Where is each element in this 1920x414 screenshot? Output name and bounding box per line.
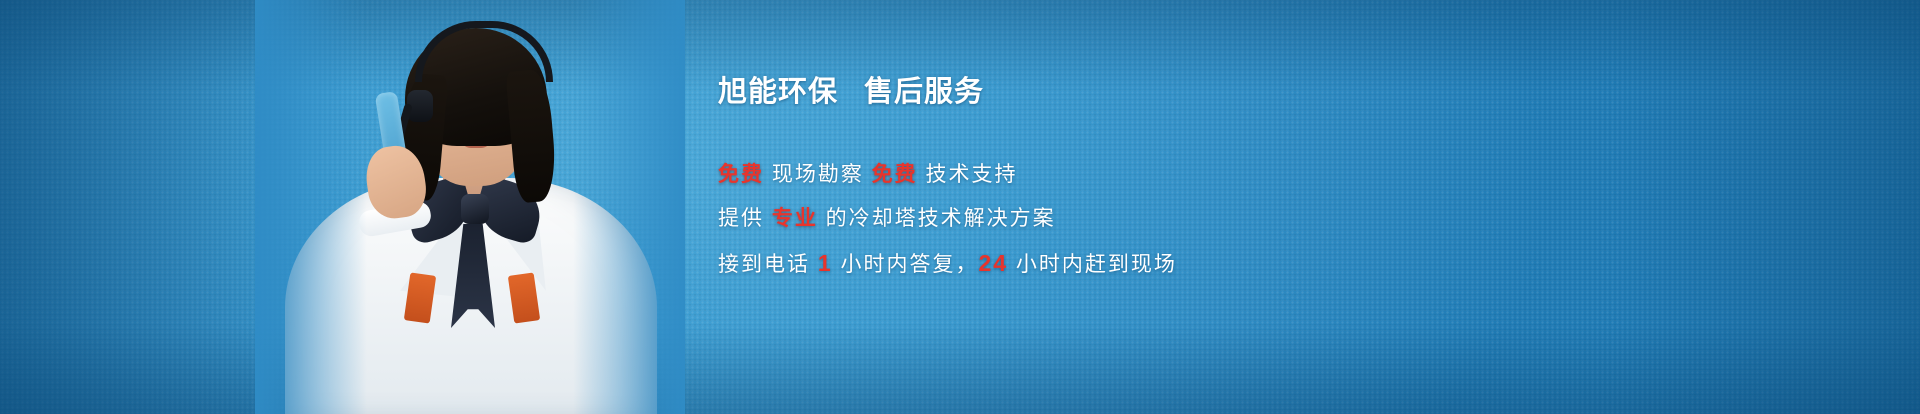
brand-name: 旭能环保: [718, 76, 838, 108]
line-3-text-0: 接到电话: [718, 253, 818, 276]
line-2: 提供 专业 的冷却塔技术解决方案: [718, 197, 1478, 241]
banner-title: 旭能环保售后服务: [718, 78, 1478, 107]
line-1-highlight-2: 免费: [872, 163, 918, 186]
line-2-highlight-1: 专业: [772, 207, 818, 230]
line-2-text-0: 提供: [718, 207, 772, 230]
line-1-text-3: 技术支持: [918, 163, 1018, 186]
line-3-text-4: 小时内赶到现场: [1008, 253, 1177, 276]
line-3-number-3: 24: [978, 250, 1008, 276]
banner-content: 旭能环保售后服务 免费 现场勘察 免费 技术支持提供 专业 的冷却塔技术解决方案…: [718, 78, 1478, 287]
after-sales-service-banner: 旭能环保售后服务 免费 现场勘察 免费 技术支持提供 专业 的冷却塔技术解决方案…: [0, 0, 1920, 414]
banner-bullet-lines: 免费 现场勘察 免费 技术支持提供 专业 的冷却塔技术解决方案接到电话 1 小时…: [718, 153, 1478, 287]
line-1-text-1: 现场勘察: [764, 163, 872, 186]
line-3-number-1: 1: [818, 250, 833, 276]
line-1: 免费 现场勘察 免费 技术支持: [718, 153, 1478, 197]
line-1-highlight-0: 免费: [718, 163, 764, 186]
operator-photo-edge-fade: [255, 0, 685, 414]
operator-photo: [255, 0, 685, 414]
section-title: 售后服务: [864, 76, 984, 108]
line-2-text-2: 的冷却塔技术解决方案: [818, 207, 1056, 230]
line-3: 接到电话 1 小时内答复，24 小时内赶到现场: [718, 241, 1478, 287]
line-3-text-2: 小时内答复，: [833, 253, 979, 276]
